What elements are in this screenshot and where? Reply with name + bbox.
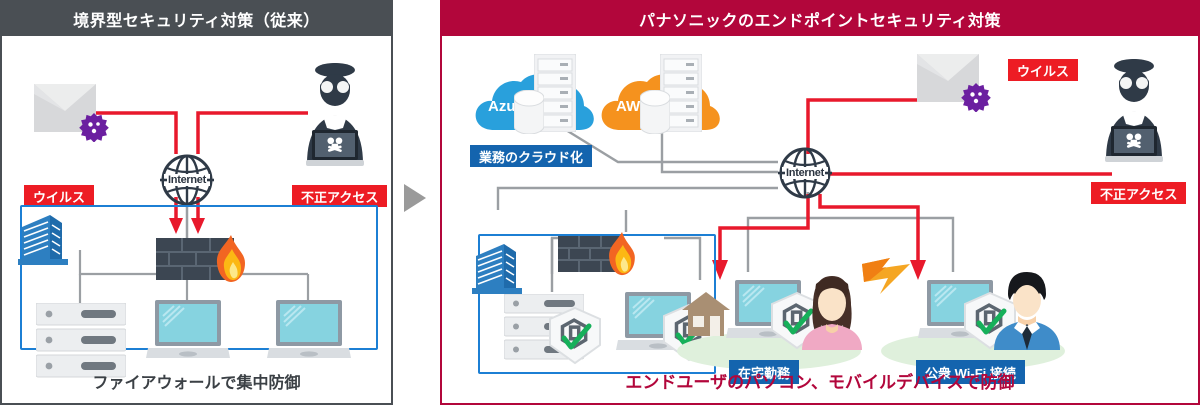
internet-globe-label: Internet [160,153,214,207]
left-laptop-2-icon [267,300,351,367]
cloud-aws-database-icon [640,90,670,139]
office-building-icon [16,209,71,272]
right-panel-body: Azure [448,42,1192,397]
right-label-cloud-migration: 業務のクラウド化 [470,145,592,167]
right-internet-globe-label: Internet [778,146,832,200]
left-panel: 境界型セキュリティ対策（従来） [0,0,393,405]
triangle-right-icon [404,184,426,212]
left-label-virus: ウイルス [24,185,94,207]
right-internet-globe-icon: Internet [778,146,832,200]
right-panel: パナソニックのエンドポイントセキュリティ対策 [440,0,1200,405]
left-label-unauthorized-access: 不正アクセス [292,185,387,207]
left-panel-header: 境界型セキュリティ対策（従来） [2,2,391,36]
right-label-virus: ウイルス [1008,59,1078,81]
left-panel-body: ウイルス Internet [8,42,385,397]
right-virus-icon [961,82,991,117]
left-laptop-1-icon [146,300,230,367]
internet-globe-icon: Internet [160,153,214,207]
house-icon [680,290,732,343]
shield-badge-server-icon [548,307,602,370]
right-panel-header: パナソニックのエンドポイントセキュリティ対策 [442,2,1198,36]
cloud-azure-database-icon [514,90,544,139]
hacker-icon [297,56,373,183]
person-female-icon [796,272,868,355]
right-label-unauthorized-access: 不正アクセス [1091,182,1186,204]
diagram-canvas: 境界型セキュリティ対策（従来） [0,0,1200,405]
cloud-aws: AWS [598,62,726,139]
flame-icon [214,235,248,288]
left-panel-title: 境界型セキュリティ対策（従来） [73,7,320,31]
right-hacker-icon [1096,52,1172,179]
cloud-azure: Azure [472,62,600,139]
right-panel-title: パナソニックのエンドポイントセキュリティ対策 [639,7,1001,31]
virus-icon [79,112,109,147]
lightning-bolt-icon [860,254,916,303]
right-flame-icon [606,232,638,281]
right-panel-caption: エンドユーザのパソコン、モバイルデバイスで防御 [442,368,1198,393]
right-office-building-icon [470,238,525,301]
person-male-icon [988,268,1066,355]
left-panel-caption: ファイアウォールで集中防御 [2,369,391,393]
